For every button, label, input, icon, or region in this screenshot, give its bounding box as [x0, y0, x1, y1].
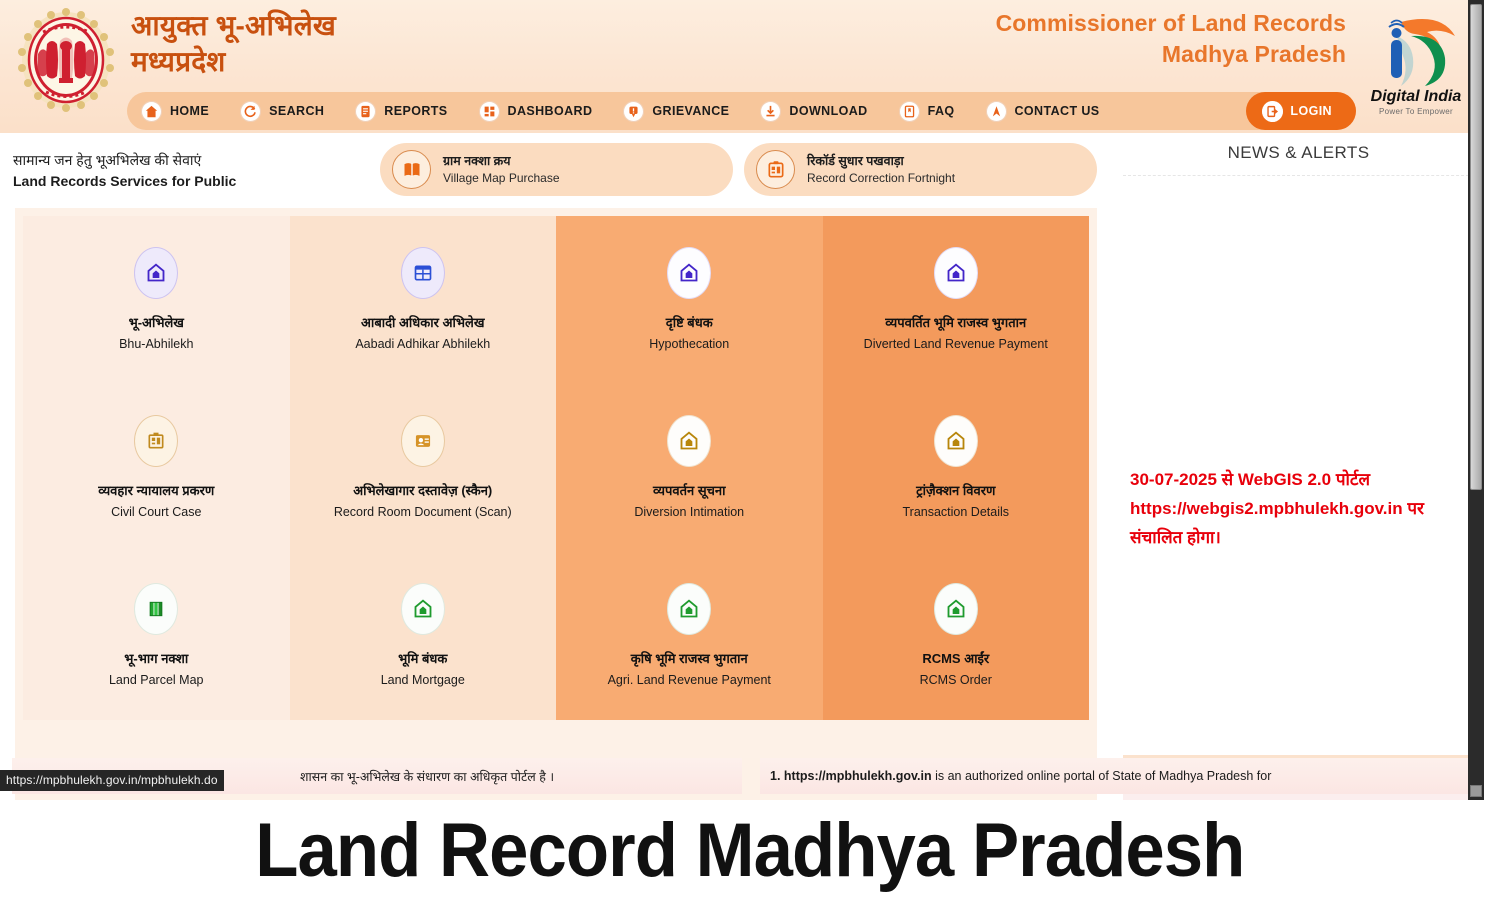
service-tile-label-english: Hypothecation	[649, 335, 729, 354]
scrollbar-down-arrow[interactable]	[1470, 785, 1482, 797]
news-alerts-panel: NEWS & ALERTS 30-07-2025 से WebGIS 2.0 प…	[1113, 133, 1484, 800]
login-label: LOGIN	[1290, 104, 1332, 118]
nav-item-search[interactable]: SEARCH	[226, 92, 341, 130]
service-tile-label-hindi: भू-अभिलेख	[129, 315, 184, 332]
services-column: सामान्य जन हेतु भूअभिलेख की सेवाएं Land …	[0, 133, 1113, 800]
service-tile-label-hindi: RCMS आईंर	[922, 651, 989, 668]
record-correction-fortnight-text: रिकॉर्ड सुधार पखवाड़ा Record Correction …	[807, 153, 955, 187]
nav-label-home: HOME	[170, 104, 209, 118]
service-tile-label-hindi: ट्रांज़ैक्शन विवरण	[916, 483, 995, 500]
screenshot-root: आयुक्त भू-अभिलेख मध्यप्रदेश Commissioner…	[0, 0, 1500, 900]
grievance-chat-icon	[623, 101, 644, 122]
service-tile[interactable]: दृष्टि बंधकHypothecation	[556, 216, 823, 384]
service-tile-label-hindi: व्यवहार न्यायालय प्रकरण	[98, 483, 214, 500]
report-document-icon	[355, 101, 376, 122]
nav-label-reports: REPORTS	[384, 104, 447, 118]
site-title-hindi: आयुक्त भू-अभिलेख मध्यप्रदेश	[131, 8, 336, 80]
nav-label-search: SEARCH	[269, 104, 324, 118]
nav-label-download: DOWNLOAD	[789, 104, 867, 118]
house-shield-icon	[934, 583, 978, 635]
nav-label-grievance: GRIEVANCE	[652, 104, 729, 118]
service-tile-label-english: Record Room Document (Scan)	[334, 503, 512, 522]
service-tile[interactable]: अभिलेखागार दस्तावेज़ (स्कैन)Record Room …	[290, 384, 557, 552]
page-content: सामान्य जन हेतु भूअभिलेख की सेवाएं Land …	[0, 133, 1484, 800]
house-shield-icon	[667, 247, 711, 299]
service-tile[interactable]: व्यपवर्तित भूमि राजस्व भुगतानDiverted La…	[823, 216, 1090, 384]
service-tile[interactable]: कृषि भूमि राजस्व भुगतानAgri. Land Revenu…	[556, 552, 823, 720]
main-navigation: HOME SEARCH REPORTS	[127, 92, 1356, 130]
service-tile-label-english: Bhu-Abhilekh	[119, 335, 193, 354]
nav-item-grievance[interactable]: GRIEVANCE	[609, 92, 746, 130]
services-bar: सामान्य जन हेतु भूअभिलेख की सेवाएं Land …	[0, 138, 1100, 203]
court-building-icon	[134, 415, 178, 467]
house-shield-icon	[667, 583, 711, 635]
nav-label-contact-us: CONTACT US	[1015, 104, 1100, 118]
house-shield-icon	[934, 415, 978, 467]
services-heading: सामान्य जन हेतु भूअभिलेख की सेवाएं Land …	[13, 150, 236, 192]
nav-item-contact-us[interactable]: CONTACT US	[972, 92, 1117, 130]
news-alerts-title: NEWS & ALERTS	[1113, 143, 1484, 163]
digital-india-swoosh-icon	[1371, 14, 1461, 88]
village-map-purchase-english: Village Map Purchase	[443, 170, 560, 187]
dashboard-grid-icon	[479, 101, 500, 122]
nav-label-faq: FAQ	[928, 104, 955, 118]
service-tile-label-english: Land Mortgage	[381, 671, 465, 690]
bottom-banner: Land Record Madhya Pradesh	[0, 800, 1500, 900]
service-tile-label-english: Land Parcel Map	[109, 671, 204, 690]
services-heading-hindi: सामान्य जन हेतु भूअभिलेख की सेवाएं	[13, 150, 236, 171]
village-map-purchase-hindi: ग्राम नक्शा क्रय	[443, 153, 560, 170]
services-grid: भू-अभिलेखBhu-Abhilekhआबादी अधिकार अभिलेख…	[23, 216, 1089, 720]
news-alerts-list[interactable]: 30-07-2025 से WebGIS 2.0 पोर्टल https://…	[1123, 175, 1474, 755]
digital-india-title: Digital India	[1354, 89, 1478, 105]
record-correction-english: Record Correction Fortnight	[807, 170, 955, 187]
vertical-scrollbar[interactable]	[1468, 0, 1484, 800]
map-book-icon	[392, 150, 431, 189]
digital-india-tagline: Power To Empower	[1354, 107, 1478, 116]
service-tile[interactable]: व्यवहार न्यायालय प्रकरणCivil Court Case	[23, 384, 290, 552]
footer-right-note: 1. https://mpbhulekh.gov.in is an author…	[760, 758, 1474, 794]
service-tile-label-english: Diverted Land Revenue Payment	[864, 335, 1048, 354]
nav-item-download[interactable]: DOWNLOAD	[746, 92, 884, 130]
contact-pin-icon	[986, 101, 1007, 122]
service-tile-label-hindi: दृष्टि बंधक	[666, 315, 713, 332]
house-shield-icon	[401, 583, 445, 635]
site-title-english: Commissioner of Land Records Madhya Prad…	[996, 8, 1346, 69]
site-title-english-line2: Madhya Pradesh	[996, 39, 1346, 70]
nav-label-dashboard: DASHBOARD	[508, 104, 593, 118]
services-grid-panel: भू-अभिलेखBhu-Abhilekhआबादी अधिकार अभिलेख…	[15, 208, 1097, 800]
house-shield-icon	[934, 247, 978, 299]
house-shield-icon	[134, 247, 178, 299]
record-correction-hindi: रिकॉर्ड सुधार पखवाड़ा	[807, 153, 955, 170]
service-tile-label-hindi: व्यपवर्तित भूमि राजस्व भुगतान	[885, 315, 1026, 332]
clipboard-record-icon	[756, 150, 795, 189]
village-map-purchase-text: ग्राम नक्शा क्रय Village Map Purchase	[443, 153, 560, 187]
scrollbar-thumb[interactable]	[1470, 4, 1482, 490]
service-tile[interactable]: ट्रांज़ैक्शन विवरणTransaction Details	[823, 384, 1090, 552]
login-door-icon	[1262, 101, 1283, 122]
table-record-icon	[401, 247, 445, 299]
service-tile-label-english: Agri. Land Revenue Payment	[608, 671, 771, 690]
site-header: आयुक्त भू-अभिलेख मध्यप्रदेश Commissioner…	[0, 0, 1484, 133]
browser-page: आयुक्त भू-अभिलेख मध्यप्रदेश Commissioner…	[0, 0, 1484, 800]
news-alert-item[interactable]: 30-07-2025 से WebGIS 2.0 पोर्टल https://…	[1130, 466, 1470, 553]
scan-document-icon	[401, 415, 445, 467]
service-tile[interactable]: भू-अभिलेखBhu-Abhilekh	[23, 216, 290, 384]
digital-india-logo: Digital India Power To Empower	[1354, 14, 1478, 122]
record-correction-fortnight-button[interactable]: रिकॉर्ड सुधार पखवाड़ा Record Correction …	[744, 143, 1097, 196]
service-tile-label-hindi: कृषि भूमि राजस्व भुगतान	[631, 651, 748, 668]
search-refresh-icon	[240, 101, 261, 122]
bottom-banner-title: Land Record Madhya Pradesh	[255, 807, 1244, 894]
service-tile-label-english: Aabadi Adhikar Abhilekh	[355, 335, 490, 354]
parcel-map-icon	[134, 583, 178, 635]
service-tile-label-english: RCMS Order	[920, 671, 992, 690]
service-tile[interactable]: व्यपवर्तन सूचनाDiversion Intimation	[556, 384, 823, 552]
service-tile-label-hindi: अभिलेखागार दस्तावेज़ (स्कैन)	[353, 483, 492, 500]
site-title-hindi-line2: मध्यप्रदेश	[131, 44, 336, 80]
service-tile[interactable]: भू-भाग नक्शाLand Parcel Map	[23, 552, 290, 720]
service-tile[interactable]: RCMS आईंरRCMS Order	[823, 552, 1090, 720]
login-button[interactable]: LOGIN	[1246, 92, 1356, 130]
site-title-english-line1: Commissioner of Land Records	[996, 8, 1346, 39]
status-bar-url: https://mpbhulekh.gov.in/mpbhulekh.do	[0, 770, 224, 791]
service-tile[interactable]: आबादी अधिकार अभिलेखAabadi Adhikar Abhile…	[290, 216, 557, 384]
nav-item-dashboard[interactable]: DASHBOARD	[465, 92, 610, 130]
house-shield-icon	[667, 415, 711, 467]
service-tile-label-hindi: भूमि बंधक	[398, 651, 447, 668]
service-tile-label-hindi: आबादी अधिकार अभिलेख	[361, 315, 484, 332]
service-tile[interactable]: भूमि बंधकLand Mortgage	[290, 552, 557, 720]
service-tile-label-english: Diversion Intimation	[634, 503, 744, 522]
village-map-purchase-button[interactable]: ग्राम नक्शा क्रय Village Map Purchase	[380, 143, 733, 196]
nav-item-faq[interactable]: FAQ	[885, 92, 972, 130]
service-tile-label-english: Civil Court Case	[111, 503, 201, 522]
faq-bookmark-icon	[899, 101, 920, 122]
service-tile-label-english: Transaction Details	[902, 503, 1009, 522]
nav-item-home[interactable]: HOME	[127, 92, 226, 130]
site-title-hindi-line1: आयुक्त भू-अभिलेख	[131, 10, 336, 41]
madhya-pradesh-state-emblem-icon	[16, 8, 116, 112]
home-icon	[141, 101, 162, 122]
footer-right-rest: is an authorized online portal of State …	[932, 769, 1272, 783]
service-tile-label-hindi: भू-भाग नक्शा	[124, 651, 188, 668]
footer-right-link[interactable]: https://mpbhulekh.gov.in	[784, 769, 932, 783]
service-tile-label-hindi: व्यपवर्तन सूचना	[653, 483, 725, 500]
download-icon	[760, 101, 781, 122]
services-heading-english: Land Records Services for Public	[13, 171, 236, 192]
nav-item-reports[interactable]: REPORTS	[341, 92, 464, 130]
footer-right-number: 1.	[770, 769, 780, 783]
footer-right-text: 1. https://mpbhulekh.gov.in is an author…	[760, 769, 1271, 783]
